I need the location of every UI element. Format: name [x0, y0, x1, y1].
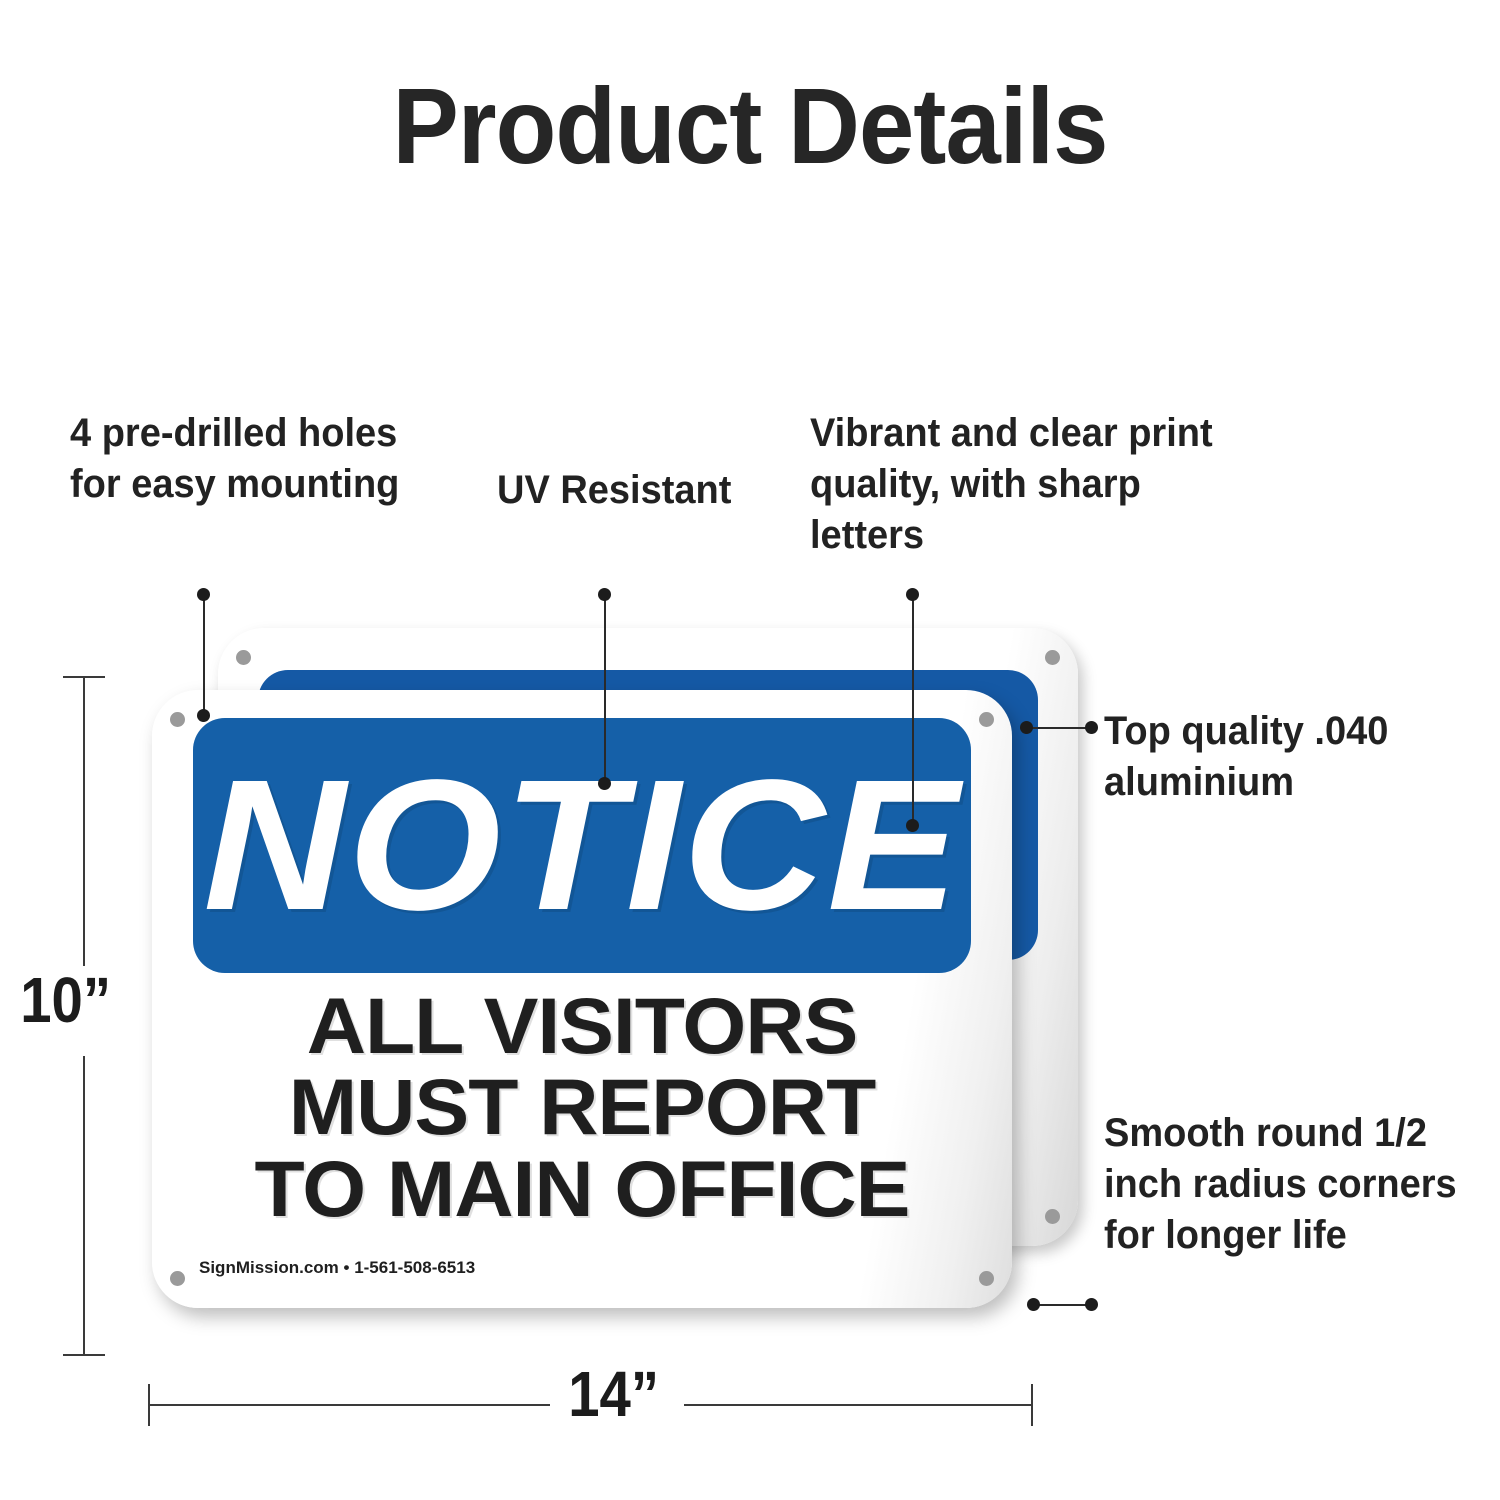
sign-notice-banner: NOTICE: [193, 718, 971, 973]
leader-line-print-quality: [912, 594, 914, 826]
mounting-hole: [170, 1271, 185, 1286]
mounting-hole: [979, 712, 994, 727]
leader-line-uv-resistant: [604, 594, 606, 784]
product-details-infographic: Product Details 4 pre-drilled holes for …: [0, 0, 1500, 1500]
dimension-height-line-upper: [83, 676, 85, 966]
sign-panel-front: NOTICE ALL VISITORS MUST REPORT TO MAIN …: [152, 690, 1012, 1308]
leader-line-round-corners: [1033, 1304, 1091, 1306]
leader-dot-aluminium-end: [1085, 721, 1098, 734]
dimension-width-cap-right: [1031, 1384, 1033, 1426]
leader-dot-aluminium-start: [1020, 721, 1033, 734]
mounting-hole: [170, 712, 185, 727]
callout-label-print-quality: Vibrant and clear print quality, with sh…: [810, 408, 1238, 562]
sign-footer-contact: SignMission.com • 1-561-508-6513: [199, 1258, 475, 1278]
mounting-hole: [236, 650, 251, 665]
callout-label-uv-resistant: UV Resistant: [497, 465, 735, 516]
sign-message-line: TO MAIN OFFICE: [160, 1148, 1004, 1229]
leader-dot-print-quality-start: [906, 588, 919, 601]
callout-label-pre-drilled-holes: 4 pre-drilled holes for easy mounting: [70, 408, 431, 510]
leader-dot-pre-drilled-holes-end: [197, 709, 210, 722]
leader-dot-pre-drilled-holes-start: [197, 588, 210, 601]
sign-message: ALL VISITORS MUST REPORT TO MAIN OFFICE: [176, 985, 988, 1229]
dimension-height-label: 10”: [20, 968, 111, 1032]
dimension-width-line-left: [148, 1404, 550, 1406]
leader-dot-uv-resistant-end: [598, 777, 611, 790]
leader-line-aluminium: [1026, 727, 1092, 729]
sign-message-line: MUST REPORT: [160, 1066, 1004, 1147]
dimension-height-line-lower: [83, 1056, 85, 1356]
sign-notice-word: NOTICE: [193, 718, 971, 973]
dimension-height-cap-bottom: [63, 1354, 105, 1356]
leader-dot-round-corners-end: [1085, 1298, 1098, 1311]
mounting-hole: [1045, 1209, 1060, 1224]
mounting-hole: [979, 1271, 994, 1286]
callout-label-aluminium: Top quality .040 aluminium: [1104, 706, 1484, 808]
callout-label-round-corners: Smooth round 1/2 inch radius corners for…: [1104, 1108, 1484, 1262]
leader-dot-round-corners-start: [1027, 1298, 1040, 1311]
page-title: Product Details: [60, 72, 1440, 180]
dimension-width-line-right: [684, 1404, 1032, 1406]
leader-line-pre-drilled-holes: [203, 594, 205, 716]
mounting-hole: [1045, 650, 1060, 665]
sign-message-line: ALL VISITORS: [160, 985, 1004, 1066]
leader-dot-print-quality-end: [906, 819, 919, 832]
leader-dot-uv-resistant-start: [598, 588, 611, 601]
dimension-width-label: 14”: [568, 1362, 659, 1426]
